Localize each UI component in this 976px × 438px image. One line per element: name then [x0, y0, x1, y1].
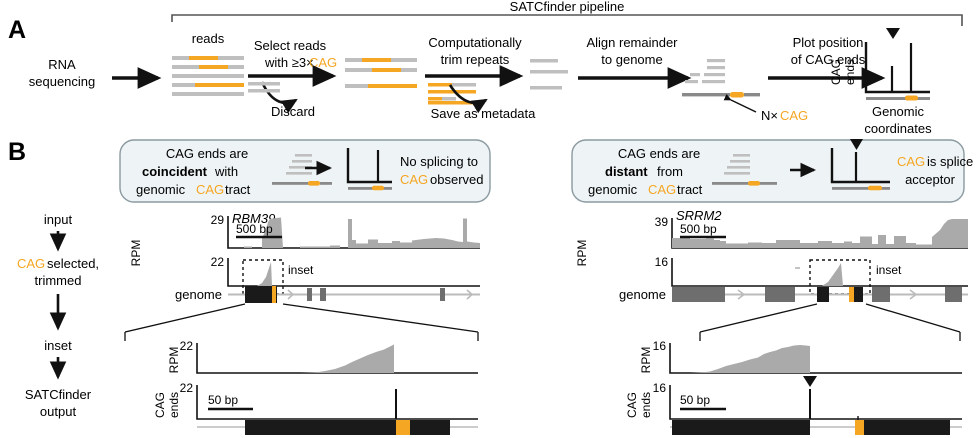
- flow-label-output: output: [40, 404, 77, 419]
- step1-line2-prefix: with ≥3×: [264, 55, 314, 70]
- callout-right: CAG ends are distant from genomic CAG tr…: [572, 139, 973, 202]
- callout-right-line3-cag: CAG: [648, 182, 676, 197]
- step3-line2: to genome: [601, 52, 662, 67]
- callout-right-line2-bold: distant: [605, 164, 648, 179]
- rna-label-line1: RNA: [48, 57, 76, 72]
- callout-right-line2-rest: from: [657, 164, 683, 179]
- triangle-marker-icon: [803, 376, 817, 387]
- right-overview-ymax: 39: [655, 215, 669, 229]
- rna-label-line2: sequencing: [29, 74, 96, 89]
- left-expansion-lines: [125, 304, 478, 332]
- step3-line1: Align remainder: [586, 35, 678, 50]
- callout-right-result-line2: acceptor: [905, 172, 956, 187]
- left-inset-cag-axis: [197, 385, 478, 419]
- left-trimmed-coverage: [257, 262, 272, 286]
- reads-label: reads: [192, 31, 225, 46]
- callout-right-result-cag: CAG: [897, 154, 925, 169]
- left-cag-axis-line1: CAG: [153, 392, 167, 418]
- metadata-label: Save as metadata: [431, 106, 537, 121]
- left-inset-rpm-axis-label: RPM: [167, 347, 181, 374]
- pipeline-bracket: [172, 15, 962, 26]
- right-expansion-lines: [700, 304, 960, 332]
- left-overview-ymax: 29: [211, 213, 225, 227]
- triangle-marker-icon: [886, 28, 900, 39]
- callout-left-line1: CAG ends are: [166, 146, 248, 161]
- ncag-cag: CAG: [780, 108, 808, 123]
- left-rpm-axis-label: RPM: [129, 240, 143, 267]
- right-cag-axis-line2: ends: [639, 392, 653, 418]
- flow-label-trimmed: trimmed: [35, 273, 82, 288]
- flow-label-inset: inset: [44, 338, 72, 353]
- panel-letter-a: A: [8, 16, 26, 44]
- callout-right-result-post: is splice: [927, 154, 973, 169]
- final-yaxis-line1: CAG: [829, 59, 843, 85]
- flow-label-satcfinder: SATCfinder: [25, 387, 92, 402]
- gene-label-right: SRRM2: [676, 208, 722, 223]
- left-cag-axis-line2: ends: [167, 392, 181, 418]
- left-genome-label: genome: [175, 287, 222, 302]
- reads-stack-initial: [172, 56, 244, 96]
- callout-left-line3-post: tract: [225, 182, 251, 197]
- ncag-prefix: N×: [761, 108, 778, 123]
- figure-root: A SATCfinder pipeline RNA sequencing rea…: [0, 0, 976, 438]
- discard-label: Discard: [271, 104, 315, 119]
- final-cag-ends-plot: [866, 28, 930, 101]
- left-inset-rpm-ymax: 22: [180, 339, 194, 353]
- step1-line2-cag: CAG: [309, 55, 337, 70]
- callout-left-line3-cag: CAG: [196, 182, 224, 197]
- aligned-reads-pileup: [682, 59, 760, 98]
- right-inset-cag-ymax: 16: [653, 381, 667, 395]
- panel-letter-b: B: [8, 138, 26, 166]
- right-inset-rpm-ymax: 16: [653, 339, 667, 353]
- pipeline-title: SATCfinder pipeline: [510, 0, 625, 14]
- left-inset-scalebar-label: 50 bp: [208, 393, 238, 407]
- right-trimmed-ymax: 16: [655, 255, 669, 269]
- right-inset-label: inset: [876, 263, 902, 277]
- callout-right-line3-post: tract: [677, 182, 703, 197]
- reads-stack-selected: [345, 58, 417, 88]
- flow-label-input: input: [44, 212, 73, 227]
- right-cag-axis-line1: CAG: [625, 392, 639, 418]
- flow-label-selected: selected,: [47, 256, 99, 271]
- callout-right-line3-pre: genomic: [588, 182, 638, 197]
- left-inset-genome-exon: [245, 420, 450, 435]
- right-trimmed-axis: [672, 258, 968, 286]
- figure-svg: A SATCfinder pipeline RNA sequencing rea…: [0, 0, 976, 438]
- left-overview-scalebar-label: 500 bp: [236, 222, 273, 236]
- callout-left-result-post: observed: [430, 172, 483, 187]
- right-trimmed-coverage: [822, 263, 843, 286]
- step4-line1: Plot position: [793, 35, 864, 50]
- flow-label-cag: CAG: [17, 256, 45, 271]
- callout-left-line3-pre: genomic: [136, 182, 186, 197]
- left-inset-label: inset: [288, 263, 314, 277]
- right-overview-scalebar-label: 500 bp: [680, 222, 717, 236]
- right-inset-cag-axis: [670, 385, 962, 419]
- left-expansion-ticks: [125, 332, 478, 341]
- right-expansion-ticks: [700, 332, 960, 341]
- right-rpm-axis-label: RPM: [575, 240, 589, 267]
- callout-left: CAG ends are coincident with genomic CAG…: [120, 140, 490, 202]
- right-genome-label: genome: [619, 287, 666, 302]
- pointer-ncag: [731, 100, 756, 112]
- left-inset-coverage: [300, 345, 394, 374]
- step2-line1: Computationally: [428, 35, 522, 50]
- right-inset-coverage: [690, 345, 810, 373]
- right-inset-rpm-axis-label: RPM: [639, 347, 653, 374]
- callout-right-line1: CAG ends are: [618, 146, 700, 161]
- callout-left-line2-rest: with: [214, 164, 238, 179]
- step2-line2: trim repeats: [441, 52, 510, 67]
- callout-left-result-line1: No splicing to: [400, 154, 478, 169]
- callout-left-line2-bold: coincident: [142, 164, 208, 179]
- final-yaxis-line2: ends: [843, 59, 857, 85]
- final-xlabel-line1: Genomic: [872, 104, 925, 119]
- step1-line1: Select reads: [254, 38, 327, 53]
- callout-left-result-cag: CAG: [400, 172, 428, 187]
- left-trimmed-ymax: 22: [211, 255, 225, 269]
- right-inset-rpm-axis: [670, 343, 962, 373]
- final-xlabel-line2: coordinates: [864, 121, 932, 136]
- reads-stack-trimmed: [530, 59, 568, 90]
- left-inset-cag-ymax: 22: [180, 381, 194, 395]
- right-inset-scalebar-label: 50 bp: [680, 393, 710, 407]
